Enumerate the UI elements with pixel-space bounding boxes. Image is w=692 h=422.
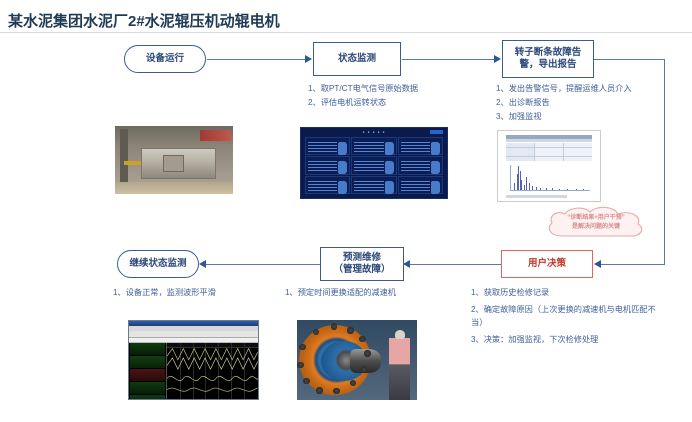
bullets-status-monitoring: 1、取PT/CT电气信号原始数据 2、评估电机运转状态	[308, 82, 488, 110]
dashboard-panel[interactable]	[351, 176, 396, 194]
waveform-toolbar	[129, 331, 258, 338]
connector-monitor-to-alarm	[402, 59, 496, 60]
arrowhead-start-to-monitor	[305, 55, 312, 63]
dashboard-panel[interactable]	[398, 156, 443, 174]
bullets-predictive-maintenance: 1、预定时间更换适配的减速机	[285, 286, 475, 300]
report-subheader-bar	[506, 139, 592, 142]
motor-photo-floor	[115, 182, 233, 194]
bullets-continue-monitoring: 1、设备正常，监测波形平滑	[113, 286, 293, 300]
bullet-decision-1: 1、获取历史检修记录	[471, 286, 667, 299]
dashboard-panel[interactable]	[305, 137, 350, 155]
image-coupling-photo	[297, 320, 417, 400]
bullet-decision-2: 2、确定故障原因（上次更换的减速机与电机匹配不当）	[471, 303, 667, 329]
node-predictive-maintenance-label-1: 预测维修	[343, 252, 381, 264]
report-spectrum-chart	[510, 165, 590, 192]
callout-line-1: “诊断结果+用户干预”	[540, 214, 652, 223]
callout-text: “诊断结果+用户干预” 是解决问题的关键	[540, 214, 652, 232]
dashboard-panel[interactable]	[398, 137, 443, 155]
slide-canvas: 某水泥集团水泥厂2#水泥辊压机动辊电机 设备运行 状态监测 转子断条故障告 警，…	[0, 0, 692, 422]
image-monitoring-dashboard: ● ● ● ● ●	[300, 127, 448, 199]
connector-decision-to-predict	[409, 264, 501, 265]
bullet-monitor-1: 1、取PT/CT电气信号原始数据	[308, 82, 488, 96]
dashboard-panel-grid	[305, 137, 443, 194]
connector-alarm-down	[664, 59, 665, 264]
node-rotor-bar-fault-alarm-label-2: 警，导出报告	[519, 59, 576, 71]
node-equipment-running-label: 设备运行	[146, 53, 184, 65]
callout-line-2: 是解决问题的关键	[540, 223, 652, 232]
bullets-alarm: 1、发出告警信号，提醒运维人员介入 2、出诊断报告 3、加强监视	[496, 82, 692, 124]
arrowhead-alarm-to-decision	[594, 260, 601, 268]
node-continue-monitoring[interactable]: 继续状态监测	[117, 250, 199, 278]
coupling-photo-worker	[389, 338, 409, 400]
node-status-monitoring[interactable]: 状态监测	[313, 42, 401, 76]
report-table	[506, 143, 592, 161]
connector-predict-to-continue	[205, 264, 320, 265]
dashboard-panel[interactable]	[351, 137, 396, 155]
motor-photo-housing	[141, 148, 217, 179]
arrowhead-predict-to-continue	[199, 260, 206, 268]
bullet-continue-1: 1、设备正常，监测波形平滑	[113, 286, 293, 300]
waveform-plot	[166, 343, 258, 399]
image-waveform-software	[128, 320, 259, 400]
report-footer-bar	[506, 195, 567, 198]
bullet-decision-3: 3、决策：加强监视，下次检修处理	[471, 333, 667, 346]
bullet-alarm-2: 2、出诊断报告	[496, 96, 692, 110]
node-status-monitoring-label: 状态监测	[338, 53, 376, 65]
connector-start-to-monitor	[207, 59, 307, 60]
bullet-alarm-1: 1、发出告警信号，提醒运维人员介入	[496, 82, 692, 96]
page-title: 某水泥集团水泥厂2#水泥辊压机动辊电机	[8, 10, 280, 31]
node-predictive-maintenance[interactable]: 预测维修 （管理故障）	[320, 247, 404, 281]
motor-photo-red-wall	[200, 130, 231, 141]
image-diagnostic-report	[497, 130, 601, 202]
dashboard-panel[interactable]	[398, 176, 443, 194]
dashboard-title: ● ● ● ● ●	[301, 130, 447, 134]
bullet-predict-1: 1、预定时间更换适配的减速机	[285, 286, 475, 300]
arrowhead-monitor-to-alarm	[494, 55, 501, 63]
node-continue-monitoring-label: 继续状态监测	[129, 258, 186, 270]
callout-cloud: “诊断结果+用户干预” 是解决问题的关键	[540, 206, 652, 244]
bullet-alarm-3: 3、加强监视	[496, 110, 692, 124]
connector-alarm-right	[594, 59, 665, 60]
arrowhead-decision-to-predict	[403, 260, 410, 268]
image-motor-photo	[115, 126, 233, 194]
dashboard-top-right-button	[430, 130, 443, 134]
node-rotor-bar-fault-alarm-label-1: 转子断条故障告	[515, 47, 582, 59]
dashboard-panel[interactable]	[305, 156, 350, 174]
node-predictive-maintenance-label-2: （管理故障）	[333, 264, 390, 276]
motor-photo-post	[120, 129, 128, 189]
node-user-decision[interactable]: 用户决策	[501, 250, 593, 278]
bullets-user-decision: 1、获取历史检修记录 2、确定故障原因（上次更换的减速机与电机匹配不当） 3、决…	[471, 286, 667, 346]
dashboard-panel[interactable]	[351, 156, 396, 174]
node-user-decision-label: 用户决策	[528, 258, 566, 270]
waveform-channel-list	[129, 343, 166, 399]
connector-alarm-to-decision	[600, 264, 665, 265]
node-equipment-running[interactable]: 设备运行	[124, 45, 206, 73]
node-rotor-bar-fault-alarm[interactable]: 转子断条故障告 警，导出报告	[502, 40, 594, 78]
title-divider	[0, 32, 692, 33]
bullet-monitor-2: 2、评估电机运转状态	[308, 96, 488, 110]
dashboard-panel[interactable]	[305, 176, 350, 194]
